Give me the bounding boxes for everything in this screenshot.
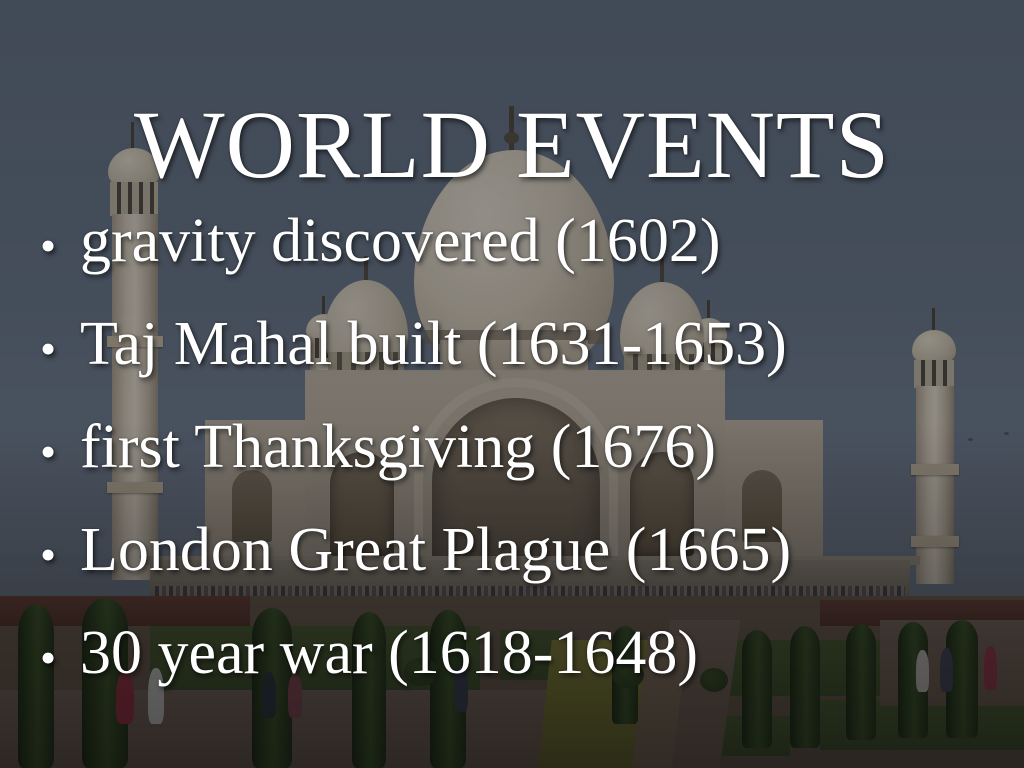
list-item-label: Taj Mahal built (1631-1653) [80,293,787,396]
list-item: • Taj Mahal built (1631-1653) [40,293,1000,396]
list-item-label: London Great Plague (1665) [80,499,791,602]
list-item: • gravity discovered (1602) [40,190,1000,293]
list-item-label: gravity discovered (1602) [80,190,720,293]
slide-content: WORLD EVENTS • gravity discovered (1602)… [0,0,1024,768]
list-item-label: first Thanksgiving (1676) [80,396,716,499]
bullet-point-icon: • [40,297,80,400]
list-item: • first Thanksgiving (1676) [40,396,1000,499]
list-item-label: 30 year war (1618-1648) [80,602,698,705]
bullet-point-icon: • [40,194,80,297]
page-title: WORLD EVENTS [0,97,1024,193]
list-item: • London Great Plague (1665) [40,499,1000,602]
bullet-point-icon: • [40,400,80,503]
bullet-list: • gravity discovered (1602) • Taj Mahal … [40,190,1000,705]
bullet-point-icon: • [40,606,80,709]
list-item: • 30 year war (1618-1648) [40,602,1000,705]
bullet-point-icon: • [40,503,80,606]
presentation-slide: WORLD EVENTS • gravity discovered (1602)… [0,0,1024,768]
